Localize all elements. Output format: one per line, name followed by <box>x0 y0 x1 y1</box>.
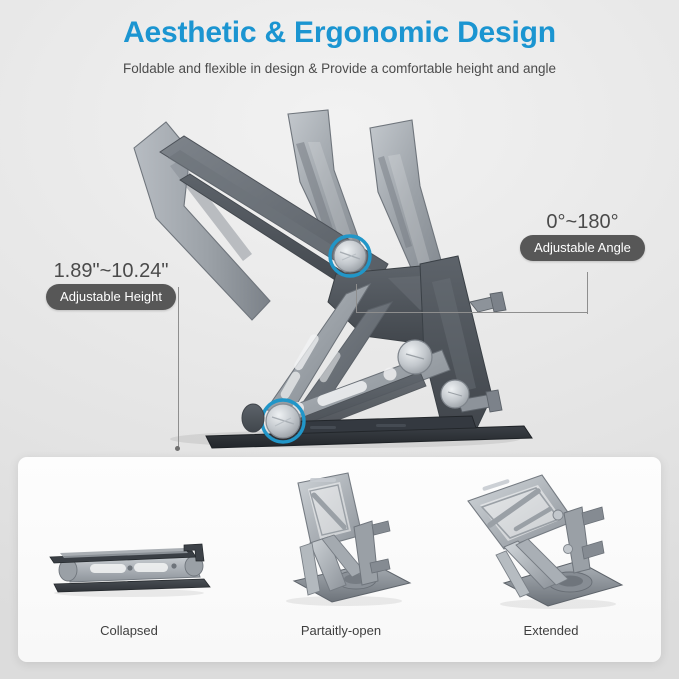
pivot-end-cap <box>242 404 264 432</box>
page-subtitle: Foldable and flexible in design & Provid… <box>0 59 679 79</box>
state-collapsed: Collapsed <box>24 465 234 655</box>
state-extended: Extended <box>446 465 656 655</box>
leader-line-angle-tick <box>356 284 357 313</box>
leader-line-angle-vertical <box>587 272 588 314</box>
adjustable-angle-value: 0°~180° <box>495 209 670 235</box>
state-collapsed-label: Collapsed <box>24 622 234 640</box>
states-panel: Collapsed <box>18 457 661 662</box>
page-title: Aesthetic & Ergonomic Design <box>0 14 679 52</box>
pivot-disc-mid <box>398 340 432 374</box>
extended-hook-upper <box>582 507 604 525</box>
hinge-highlight-bottom <box>262 400 304 442</box>
leader-dot-height <box>175 446 180 451</box>
hinge-highlight-top <box>330 236 370 276</box>
adjustable-height-value: 1.89"~10.24" <box>16 258 206 284</box>
state-collapsed-illustration <box>24 465 234 620</box>
state-partially-open: Partaitly-open <box>236 465 446 655</box>
callout-adjustable-height: 1.89"~10.24" Adjustable Height <box>16 258 206 310</box>
callout-adjustable-angle: 0°~180° Adjustable Angle <box>495 209 670 261</box>
adjustable-height-pill: Adjustable Height <box>46 284 176 310</box>
state-extended-illustration <box>446 465 656 620</box>
state-partially-open-label: Partaitly-open <box>236 622 446 640</box>
adjustable-angle-pill: Adjustable Angle <box>520 235 645 261</box>
pivot-disc-low <box>441 380 469 408</box>
state-partially-open-illustration <box>236 465 446 620</box>
leader-line-height <box>178 287 179 449</box>
infographic-root: Aesthetic & Ergonomic Design Foldable an… <box>0 0 679 679</box>
state-extended-label: Extended <box>446 622 656 640</box>
leader-line-angle-horizontal <box>356 312 588 313</box>
